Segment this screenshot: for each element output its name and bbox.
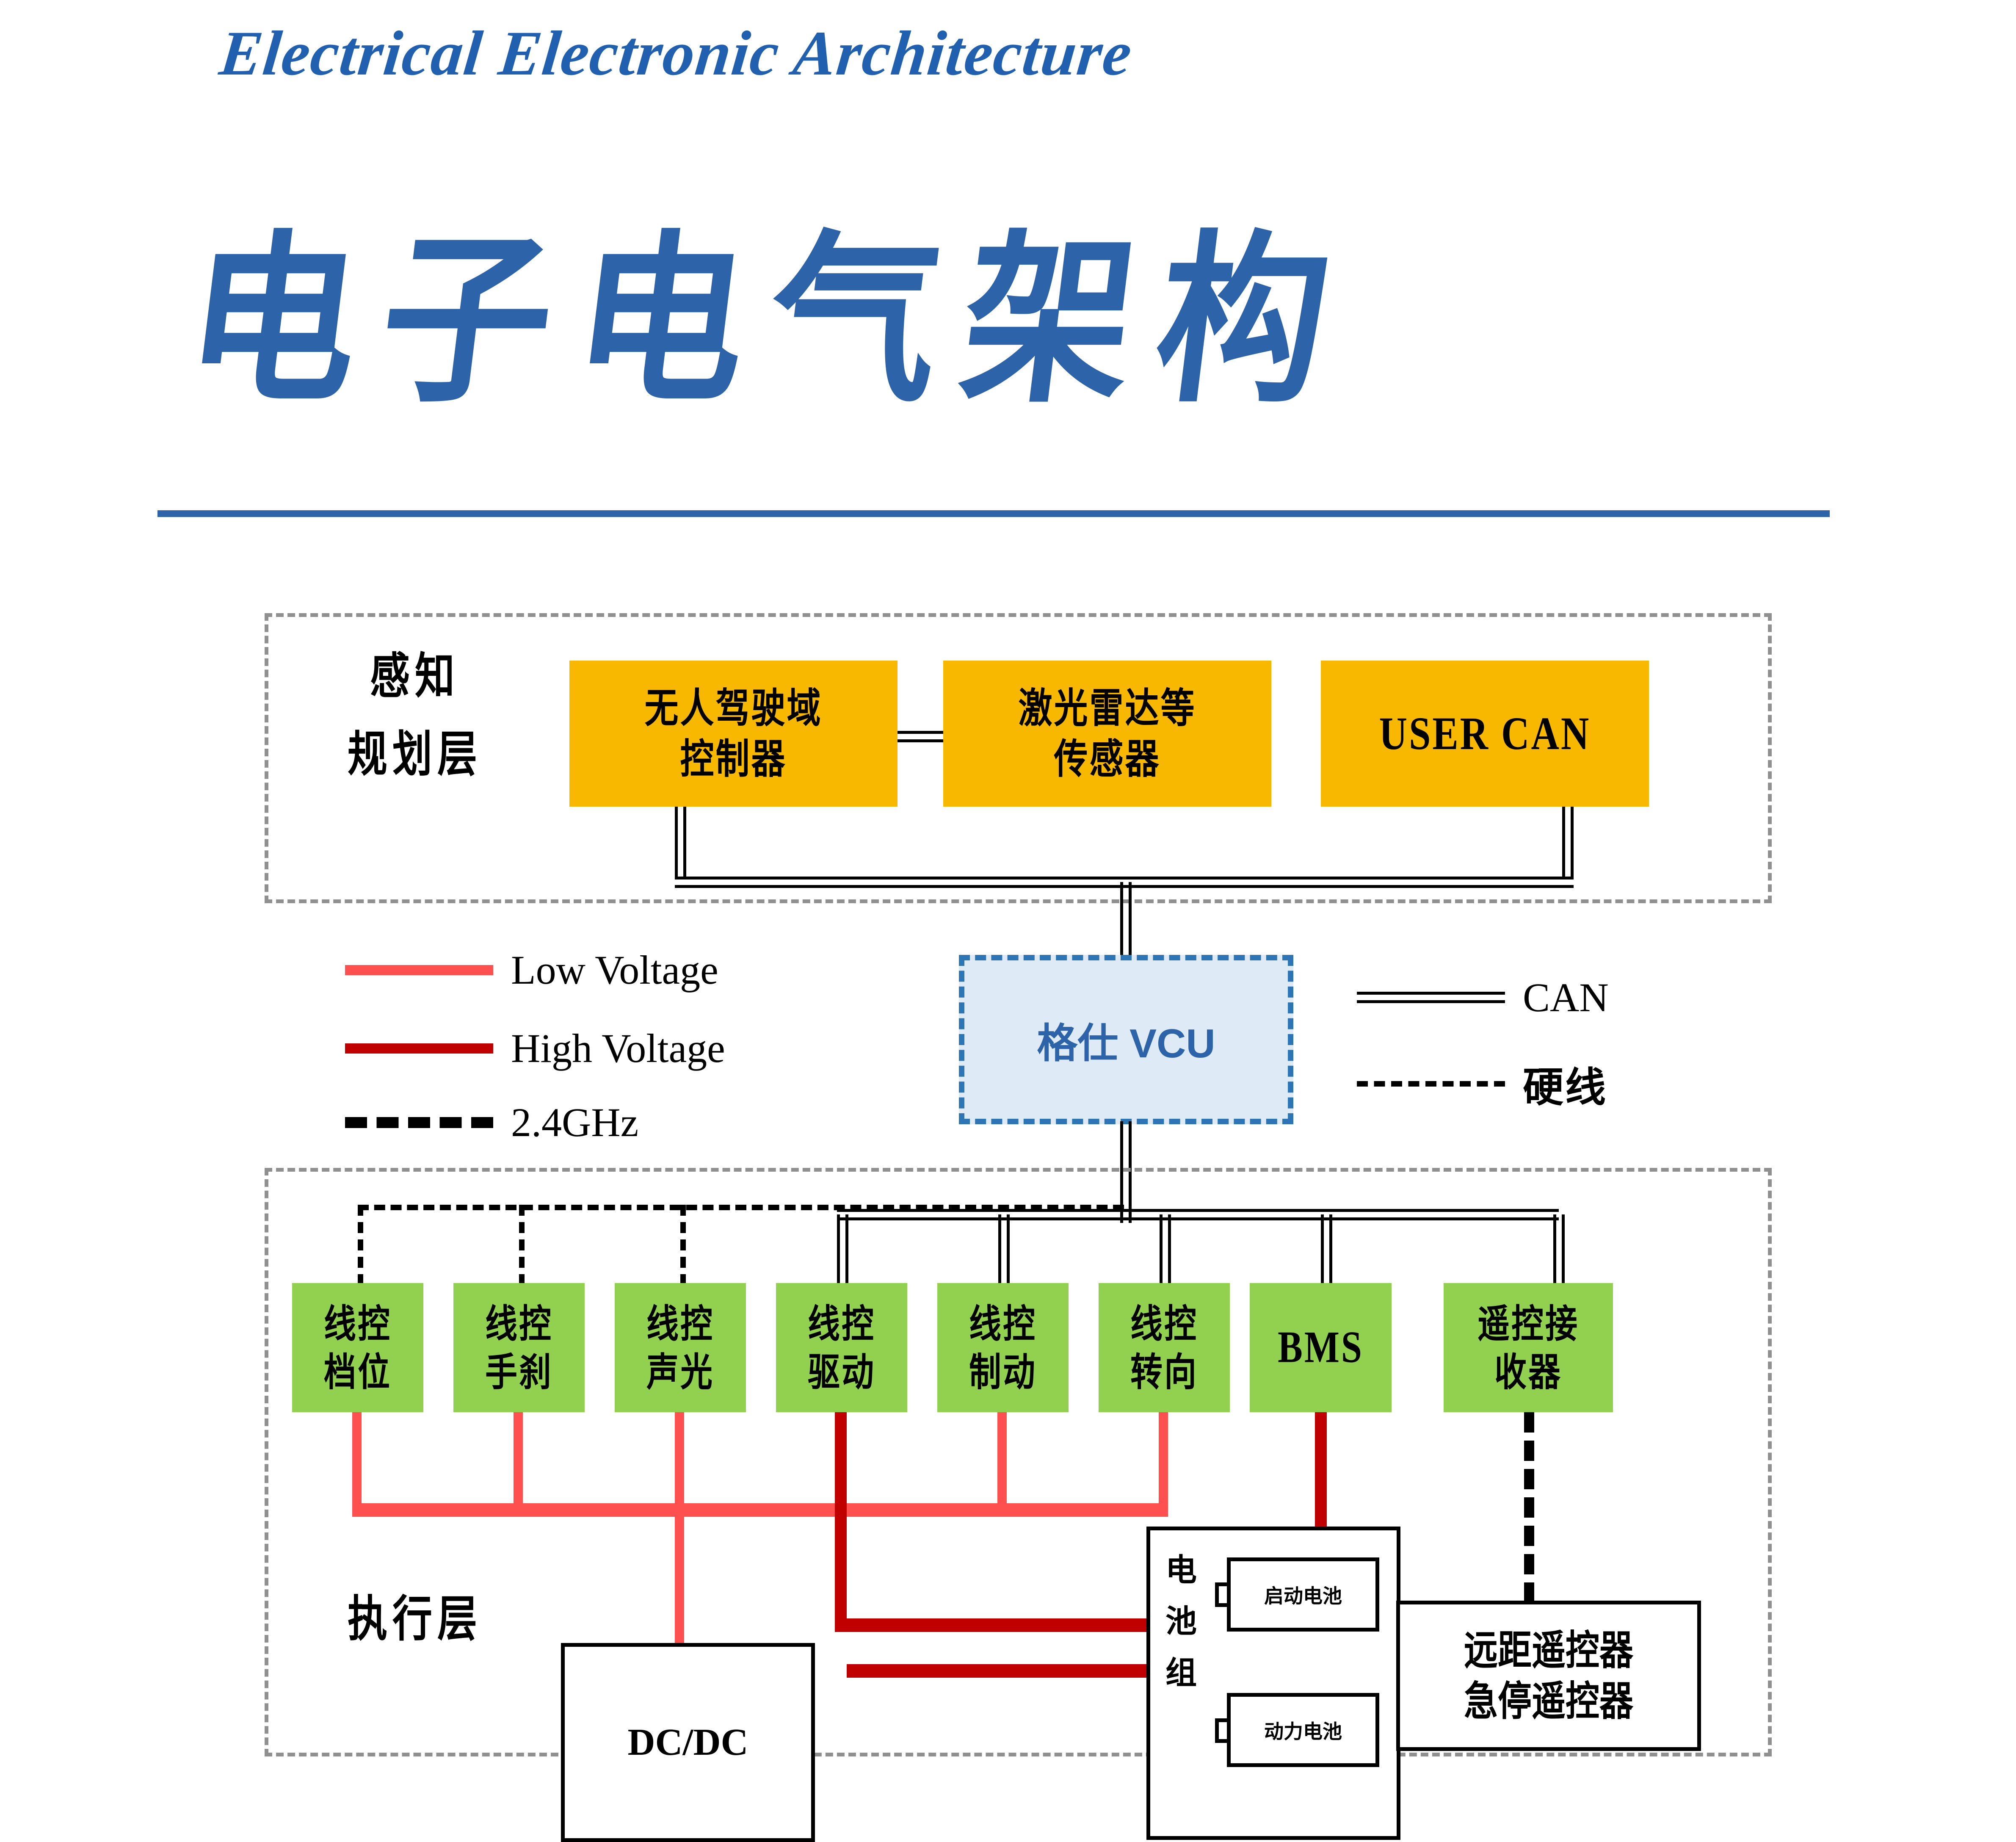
handbrake-label-line2: 手刹 xyxy=(485,1348,553,1396)
lv-bus-horizontal xyxy=(352,1503,1168,1517)
sound-label-line1: 线控 xyxy=(646,1300,714,1348)
chinese-title: 电子电气架构 xyxy=(174,172,1370,437)
english-title: Electrical Electronic Architecture xyxy=(216,17,1136,90)
legend-hardwire-swatch xyxy=(1357,1081,1505,1087)
steer-label-line1: 线控 xyxy=(1130,1300,1198,1348)
legend-high-voltage: High Voltage xyxy=(345,1025,725,1072)
legend-rf-label: 2.4GHz xyxy=(511,1099,638,1146)
can-drop-steer xyxy=(1160,1214,1171,1286)
can-drop-rc-rx xyxy=(1553,1214,1565,1286)
hv-drop-bms-to-battery xyxy=(1315,1412,1327,1533)
node-remote-receiver[interactable]: 遥控接 收器 xyxy=(1444,1283,1613,1412)
node-wire-control-gear[interactable]: 线控 档位 xyxy=(292,1283,423,1412)
can-link-adc-lidar xyxy=(898,731,943,742)
gear-label-line2: 档位 xyxy=(324,1348,392,1396)
drive-label-line1: 线控 xyxy=(808,1300,875,1348)
dcdc-label: DC/DC xyxy=(628,1719,748,1767)
battery-pack-char-1: 池 xyxy=(1162,1603,1200,1640)
hardwire-drop-handbrake xyxy=(519,1205,525,1285)
can-trunk-to-vcu xyxy=(1120,882,1132,958)
adc-label-line2: 控制器 xyxy=(645,734,823,785)
can-drop-bms xyxy=(1321,1214,1332,1286)
battery-pack-label: 电 池 组 xyxy=(1162,1552,1200,1692)
can-drop-adc xyxy=(675,807,686,877)
node-wire-control-brake[interactable]: 线控 制动 xyxy=(937,1283,1069,1412)
perception-layer-label: 感知 规划层 xyxy=(334,648,495,783)
legend-hardwire-label: 硬线 xyxy=(1523,1054,1607,1113)
remote-label-line1: 远距遥控器 xyxy=(1464,1625,1633,1676)
can-drop-user-can xyxy=(1562,807,1574,877)
remote-label-line2: 急停遥控器 xyxy=(1464,1676,1633,1727)
legend-low-voltage-swatch xyxy=(345,965,493,975)
legend-high-voltage-swatch xyxy=(345,1043,493,1054)
traction-battery-label: 动力电池 xyxy=(1264,1716,1342,1744)
rf-link-receiver-to-remote xyxy=(1524,1412,1534,1603)
node-dcdc[interactable]: DC/DC xyxy=(561,1643,815,1842)
brake-label-line1: 线控 xyxy=(969,1300,1037,1348)
legend-can: CAN xyxy=(1357,974,1609,1021)
battery-pack-char-0: 电 xyxy=(1162,1552,1200,1589)
node-lidar-sensors[interactable]: 激光雷达等 传感器 xyxy=(943,661,1271,807)
node-wire-control-drive[interactable]: 线控 驱动 xyxy=(776,1283,907,1412)
node-wire-control-sound-light[interactable]: 线控 声光 xyxy=(615,1283,746,1412)
battery-pack-char-2: 组 xyxy=(1162,1655,1200,1692)
node-wire-control-steering[interactable]: 线控 转向 xyxy=(1099,1283,1230,1412)
lv-trunk-to-dcdc xyxy=(675,1503,684,1645)
perception-label-line1: 感知 xyxy=(334,648,495,705)
can-drop-drive xyxy=(837,1214,848,1286)
rc-rx-label-line2: 收器 xyxy=(1477,1348,1579,1396)
gear-label-line1: 线控 xyxy=(324,1300,392,1348)
legend-can-swatch xyxy=(1357,992,1505,1003)
node-bms[interactable]: BMS xyxy=(1250,1283,1392,1412)
sound-label-line2: 声光 xyxy=(646,1348,714,1396)
brake-label-line2: 制动 xyxy=(969,1348,1037,1396)
header-divider xyxy=(157,510,1830,517)
page-header: Electrical Electronic Architecture 电子电气架… xyxy=(0,0,2016,534)
legend-rf-24ghz: 2.4GHz xyxy=(345,1099,638,1146)
rc-rx-label-line1: 遥控接 xyxy=(1477,1300,1579,1348)
hardwire-drop-sound xyxy=(680,1205,686,1285)
hv-bus-dcdc-to-battery xyxy=(847,1664,1160,1678)
drive-label-line2: 驱动 xyxy=(808,1348,875,1396)
legend-low-voltage-label: Low Voltage xyxy=(511,946,718,993)
node-user-can[interactable]: USER CAN xyxy=(1321,661,1649,807)
node-traction-battery[interactable]: 动力电池 xyxy=(1227,1693,1379,1767)
bms-label: BMS xyxy=(1278,1320,1364,1376)
can-bus-execution xyxy=(837,1209,1559,1220)
node-vcu[interactable]: 格仕 VCU xyxy=(959,955,1293,1124)
lv-drop-handbrake xyxy=(514,1412,523,1516)
lidar-label-line1: 激光雷达等 xyxy=(1019,683,1196,734)
legend-can-label: CAN xyxy=(1523,974,1609,1021)
vcu-label: 格仕 VCU xyxy=(1037,1010,1215,1069)
execution-layer-label: 执行层 xyxy=(326,1591,504,1648)
lv-drop-brake xyxy=(997,1412,1007,1503)
steer-label-line2: 转向 xyxy=(1130,1348,1198,1396)
node-start-battery[interactable]: 启动电池 xyxy=(1227,1557,1379,1632)
can-drop-brake xyxy=(998,1214,1010,1286)
hardwire-drop-gear xyxy=(358,1205,363,1285)
lv-drop-steer xyxy=(1159,1412,1168,1516)
user-can-label: USER CAN xyxy=(1379,705,1591,763)
adc-label-line1: 无人驾驶域 xyxy=(645,683,823,734)
legend-rf-swatch xyxy=(345,1117,493,1128)
legend-hardwire: 硬线 xyxy=(1357,1054,1607,1113)
lv-drop-gear xyxy=(352,1412,362,1516)
lv-drop-sound xyxy=(675,1412,684,1516)
node-remote-controllers[interactable]: 远距遥控器 急停遥控器 xyxy=(1396,1601,1701,1751)
hv-drop-drive xyxy=(835,1412,847,1630)
lidar-label-line2: 传感器 xyxy=(1019,734,1196,785)
handbrake-label-line1: 线控 xyxy=(485,1300,553,1348)
node-wire-control-handbrake[interactable]: 线控 手刹 xyxy=(453,1283,585,1412)
legend-high-voltage-label: High Voltage xyxy=(511,1025,725,1072)
legend-low-voltage: Low Voltage xyxy=(345,946,718,993)
start-battery-label: 启动电池 xyxy=(1264,1581,1342,1609)
node-autonomous-domain-controller[interactable]: 无人驾驶域 控制器 xyxy=(569,661,898,807)
perception-label-line2: 规划层 xyxy=(334,726,495,783)
